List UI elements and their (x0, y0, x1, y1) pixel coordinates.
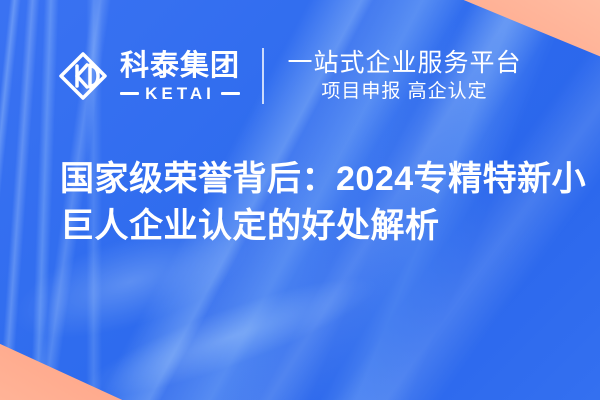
tagline-secondary: 项目申报 高企认定 (288, 80, 522, 104)
brand-name-en: KETAI (145, 85, 215, 103)
promo-banner: 科泰集团 KETAI 一站式企业服务平台 项目申报 高企认定 国家级荣誉背后：2… (0, 0, 600, 400)
banner-header: 科泰集团 KETAI 一站式企业服务平台 项目申报 高企认定 (58, 44, 522, 108)
logo-lockup (58, 51, 108, 101)
tagline-block: 一站式企业服务平台 项目申报 高企认定 (288, 48, 522, 104)
ketai-diamond-monogram-icon (58, 51, 108, 101)
brand-wordmark: 科泰集团 KETAI (120, 50, 240, 103)
headline-line-2: 巨人企业认定的好处解析 (60, 203, 560, 250)
headline-block: 国家级荣誉背后：2024专精特新小 巨人企业认定的好处解析 (60, 156, 560, 250)
brand-rule-right (221, 92, 240, 95)
headline-line-1: 国家级荣誉背后：2024专精特新小 (60, 156, 560, 203)
brand-name-cn: 科泰集团 (120, 50, 240, 82)
brand-rule-left (120, 92, 139, 95)
header-divider (262, 48, 264, 104)
tagline-primary: 一站式企业服务平台 (288, 48, 522, 78)
brand-name-en-row: KETAI (120, 85, 240, 103)
